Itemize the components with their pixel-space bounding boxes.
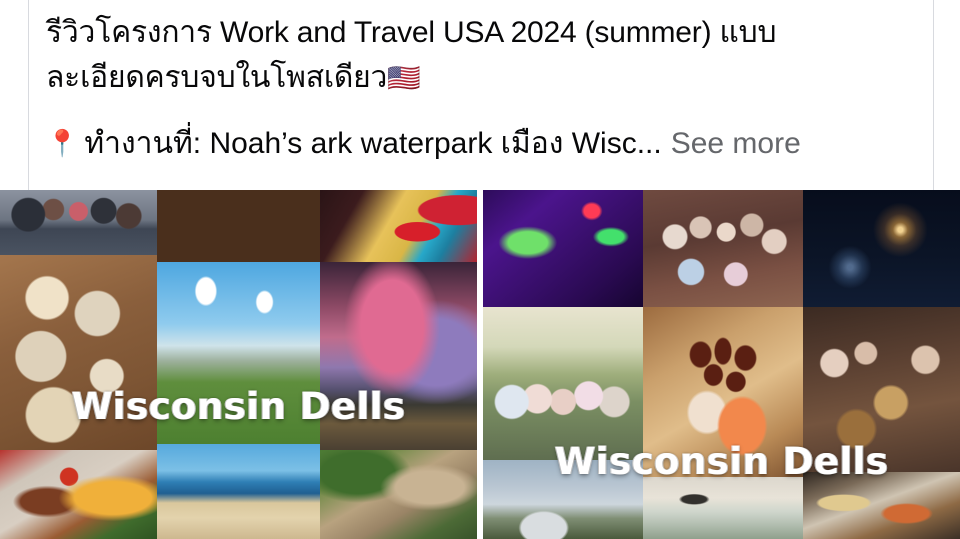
us-flag-emoji: 🇺🇸 xyxy=(387,63,420,93)
photo-state-capitol-dome[interactable] xyxy=(483,460,643,539)
map-pin-icon: 📍 xyxy=(46,122,78,164)
post-message-line-1: รีวิวโครงการ Work and Travel USA 2024 (s… xyxy=(46,16,776,49)
post-location-line: 📍 ทำงานที่: Noah’s ark waterpark เมือง W… xyxy=(46,123,922,165)
photo-sandstone-cliffs[interactable] xyxy=(320,450,477,539)
photo-sushi-platter[interactable] xyxy=(643,307,803,477)
photo-friends-on-grass[interactable] xyxy=(483,307,643,460)
photo-red-cake-lounge[interactable] xyxy=(320,190,477,262)
photo-milwaukee-art-museum[interactable] xyxy=(157,262,320,444)
collage-left[interactable]: Wisconsin Dells xyxy=(0,190,477,539)
facebook-post-card: รีวิวโครงการ Work and Travel USA 2024 (s… xyxy=(0,0,960,539)
post-location-text: ทำงานที่: Noah’s ark waterpark เมือง Wis… xyxy=(84,123,661,165)
photo-dinner-table-group[interactable] xyxy=(803,307,960,472)
photo-lake-michigan-beach[interactable] xyxy=(157,444,320,539)
see-more-link[interactable]: See more xyxy=(671,123,801,165)
photo-burger-plate-table[interactable] xyxy=(803,472,960,539)
post-message-line-2: ละเอียดครบจบในโพสเดียว xyxy=(46,61,387,94)
photo-fireworks-night-sky[interactable] xyxy=(803,190,960,307)
photo-grateful-shed-sign[interactable] xyxy=(483,190,643,307)
photo-waterpark-queue-crowd[interactable] xyxy=(0,190,157,255)
photo-large-group-photo[interactable] xyxy=(643,190,803,307)
photo-brunch-spread[interactable] xyxy=(0,255,157,450)
photo-burger-and-fries[interactable] xyxy=(0,450,157,539)
post-media-collages: Wisconsin Dells Wisconsin Dells xyxy=(0,190,960,539)
message-paragraph-gap xyxy=(46,101,922,123)
photo-aurora-borealis-sky[interactable] xyxy=(320,262,477,450)
post-message: รีวิวโครงการ Work and Travel USA 2024 (s… xyxy=(46,6,922,165)
post-right-border xyxy=(933,0,934,190)
post-left-border xyxy=(28,0,29,190)
collage-right[interactable]: Wisconsin Dells xyxy=(483,190,960,539)
photo-deep-dish-pizza[interactable] xyxy=(157,190,320,262)
photo-huckleberrys-storefront[interactable] xyxy=(643,477,803,539)
